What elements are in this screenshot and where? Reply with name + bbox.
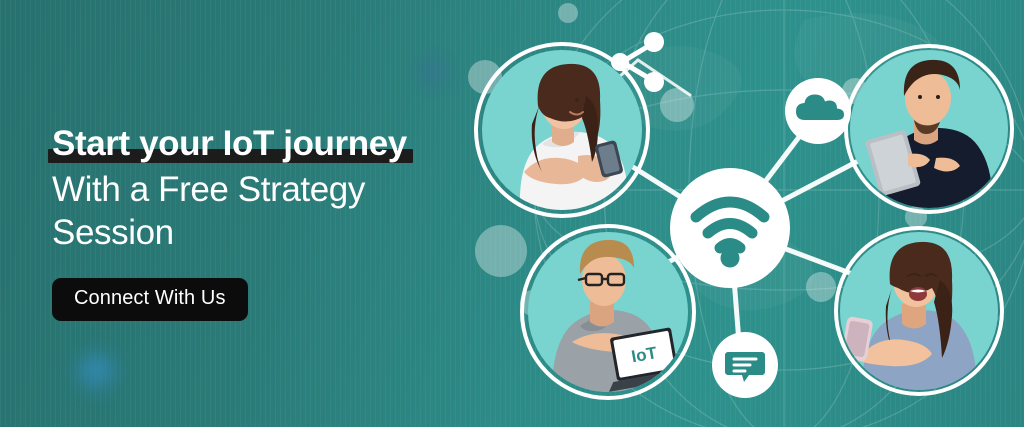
copy-block: Start your IoT journey With a Free Strat… [52,122,482,321]
share-nodes-icon [600,22,680,102]
headline-line-1: Start your IoT journey [52,122,407,166]
cloud-node [785,78,851,144]
person-man-laptop-bottom-left: IoT [528,232,688,392]
chat-node [712,332,778,398]
photo-ring [834,226,1004,396]
person-man-tablet-top-right [850,50,1008,208]
chat-bubble-icon [712,332,778,398]
wifi-icon [670,168,790,288]
wifi-hub-node [670,168,790,288]
person-woman-phone-bottom-right [840,232,998,390]
connect-with-us-button[interactable]: Connect With Us [52,278,248,321]
photo-ring [844,44,1014,214]
page-title: Start your IoT journey With a Free Strat… [52,122,482,254]
blur-orb-left [76,352,120,396]
iot-network-graphic: IoT [440,0,1024,427]
headline-subline: With a Free Strategy Session [52,168,482,254]
cloud-icon [785,78,851,144]
iot-promo-banner: Start your IoT journey With a Free Strat… [0,0,1024,427]
headline-line-1-text: Start your IoT journey [52,124,407,163]
